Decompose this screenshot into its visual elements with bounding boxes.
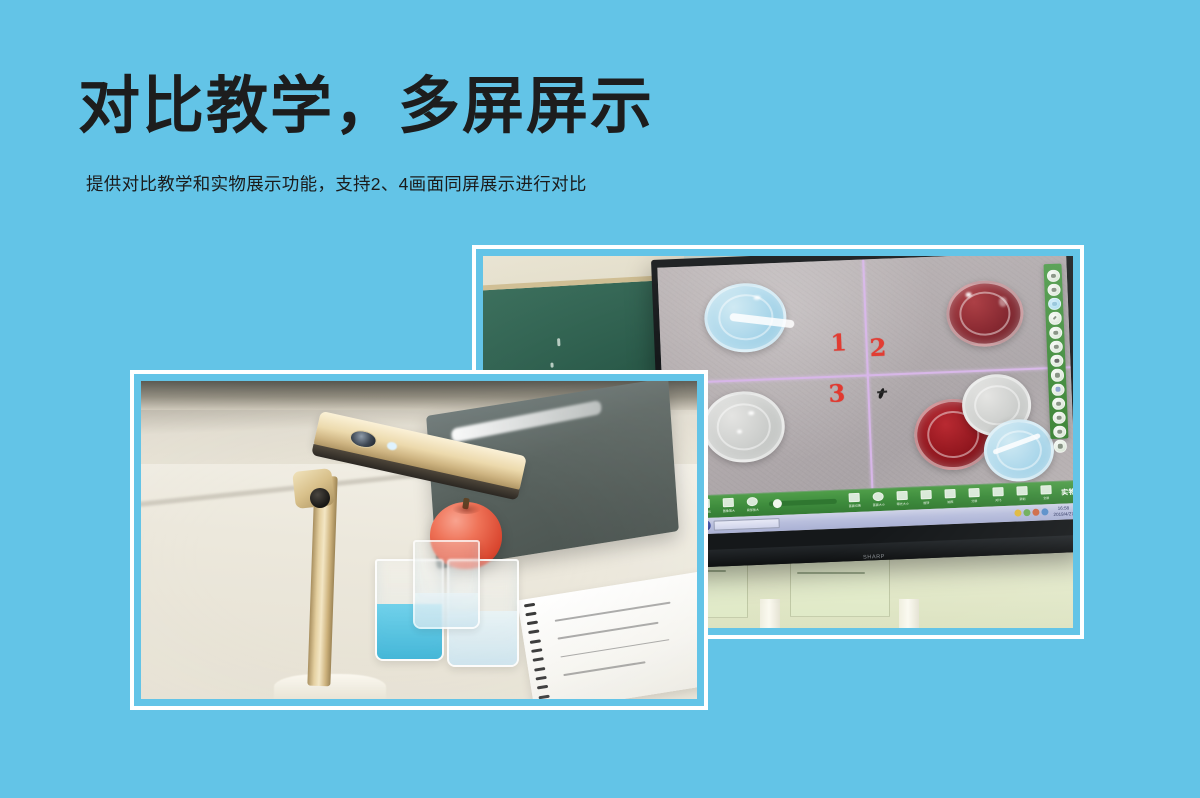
toolbar-button-switch-screen[interactable]: 画面切换 <box>843 491 866 511</box>
grid-icon[interactable] <box>1054 440 1067 453</box>
stop-icon[interactable] <box>1047 269 1060 282</box>
toolbar-button-rotate-cw[interactable]: 旋转 <box>915 488 938 508</box>
exposure-icon <box>897 491 908 500</box>
panel-screen: 1 2 3 <box>658 256 1073 535</box>
fullscreen-icon <box>1041 485 1052 494</box>
rotate-cw-icon <box>921 490 932 499</box>
target-icon[interactable] <box>1049 326 1062 339</box>
circle-icon[interactable] <box>1048 283 1061 296</box>
toolbar-button-fullscreen[interactable]: 全屏 <box>1035 483 1058 503</box>
quadrant-mark-2: 2 <box>869 332 887 362</box>
toolbar-button-zoom-image[interactable]: 图像放大 <box>717 496 740 516</box>
magnifier-icon <box>747 497 758 506</box>
toolbar-label: 局部放大 <box>747 507 759 512</box>
quadrant-mark-3: 3 <box>828 378 846 408</box>
mirror-icon[interactable] <box>1053 425 1066 438</box>
taskbar-clock[interactable]: 16:58 2019/4/27 <box>1053 505 1073 517</box>
image-icon[interactable] <box>1051 369 1064 382</box>
toolbar-label: 曝光大小 <box>896 501 908 506</box>
beaker-clear-back <box>413 540 480 629</box>
toolbar-label: 全屏 <box>1043 495 1049 500</box>
interactive-flat-panel: 1 2 3 <box>651 256 1073 568</box>
toolbar-button-exposure[interactable]: 曝光大小 <box>891 489 914 509</box>
focus-icon[interactable] <box>1048 298 1061 311</box>
switch-screen-icon <box>849 493 860 502</box>
page-subtitle: 提供对比教学和实物展示功能，支持2、4画面同屏展示进行对比 <box>86 171 838 196</box>
pen-icon[interactable] <box>1049 312 1062 325</box>
monitor-icon[interactable] <box>1052 397 1065 410</box>
camera-icon <box>945 489 956 498</box>
no-flash-icon[interactable] <box>1051 354 1064 367</box>
clock-time: 16:58 <box>1058 505 1070 510</box>
toolbar-button-split-screen[interactable]: 分屏 <box>963 486 986 506</box>
palette-icon[interactable] <box>1052 383 1065 396</box>
toolbar-label: 录制 <box>1019 496 1025 501</box>
screen-size-icon <box>873 492 884 501</box>
toolbar-label: 分屏 <box>971 498 977 503</box>
camera-lens-icon <box>348 428 378 450</box>
four-split-feed: 1 2 3 <box>658 256 1073 498</box>
visualizer-joint-cap <box>310 488 330 508</box>
zoom-in-icon <box>723 498 734 507</box>
toolbar-button-camera[interactable]: 拍照 <box>939 487 962 507</box>
system-tray[interactable] <box>1014 508 1050 516</box>
toolbar-button-record[interactable]: 录制 <box>1011 484 1034 504</box>
toolbar-app-title: 实物展示 <box>1061 486 1073 497</box>
record-icon <box>1017 486 1028 495</box>
slider-knob[interactable] <box>773 499 782 508</box>
status-led-icon <box>386 440 398 450</box>
document-camera-photo <box>141 381 697 699</box>
document-camera-photo-frame <box>130 370 708 710</box>
taskbar-window-button[interactable] <box>714 517 780 530</box>
document-icon[interactable] <box>1053 411 1066 424</box>
toolbar-label: 图像放大 <box>723 508 735 513</box>
toolbar-label: 画面大小 <box>872 502 884 507</box>
quadrant-mark-1: 1 <box>830 329 847 357</box>
toolbar-button-screen-size[interactable]: 画面大小 <box>867 490 890 510</box>
page-title: 对比教学，多屏屏示 <box>78 72 838 141</box>
brightness-slider[interactable] <box>769 499 837 507</box>
toolbar-label: 对比 <box>995 497 1001 502</box>
two-pane-icon <box>993 487 1004 496</box>
toolbar-button-magnifier[interactable]: 局部放大 <box>741 495 764 515</box>
panel-brand: SHARP <box>863 553 885 560</box>
header-block: 对比教学，多屏屏示 提供对比教学和实物展示功能，支持2、4画面同屏展示进行对比 <box>78 72 838 196</box>
toolbar-label: 画面切换 <box>848 503 860 508</box>
split-screen-icon <box>969 488 980 497</box>
clock-date: 2019/4/27 <box>1053 511 1073 517</box>
toolbar-label: 拍照 <box>947 499 953 504</box>
sun-icon[interactable] <box>1050 340 1063 353</box>
toolbar-button-two-pane[interactable]: 对比 <box>987 485 1010 505</box>
toolbar-label: 旋转 <box>923 500 929 505</box>
